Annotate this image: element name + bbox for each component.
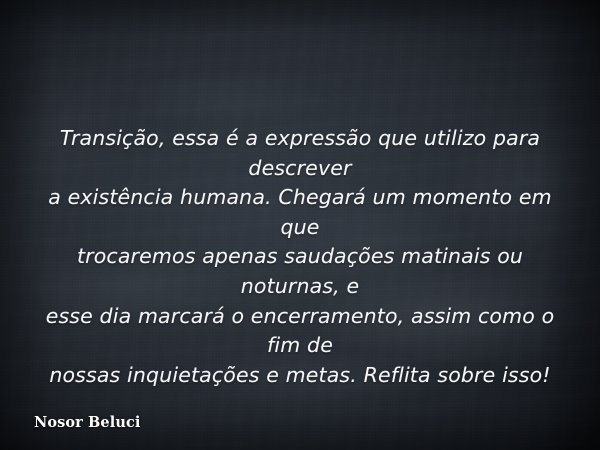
- author-credit: Nosor Beluci: [34, 414, 141, 431]
- quote-card: Transição, essa é a expressão que utiliz…: [0, 0, 600, 450]
- quote-block: Transição, essa é a expressão que utiliz…: [30, 124, 570, 390]
- quote-text: Transição, essa é a expressão que utiliz…: [30, 124, 570, 390]
